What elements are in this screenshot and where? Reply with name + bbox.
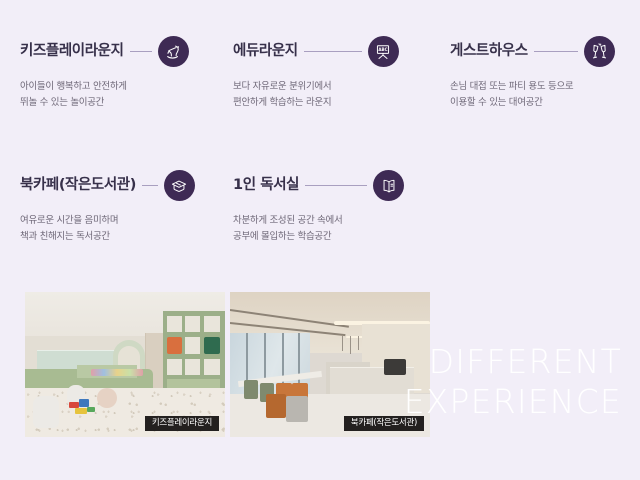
photo-toy-row [91, 369, 143, 376]
connector-line [305, 185, 367, 186]
connector-line [534, 51, 578, 52]
feature-head: 1인 독서실 [233, 170, 433, 201]
connector-line [142, 185, 158, 186]
easel-board-icon: ABC [368, 36, 399, 67]
photo-pendant-light [350, 336, 351, 355]
toasting-glasses-icon [584, 36, 615, 67]
connector-line [304, 51, 362, 52]
photo-pendant-light [358, 336, 359, 351]
feature-card-single-reading-room[interactable]: 1인 독서실 차분하게 조성된 공간 속에서 공부에 몰입하는 학습공간 [233, 170, 433, 244]
photo-plush-toy [33, 396, 59, 428]
feature-head: 키즈플레이라운지 [20, 36, 220, 67]
photo-coffee-machine [384, 359, 406, 375]
svg-text:ABC: ABC [379, 46, 388, 51]
feature-desc-line-1: 손님 대접 또는 파티 용도 등으로 [450, 79, 640, 95]
photo-shelving [163, 311, 225, 394]
feature-description: 여유로운 시간을 음미하며 책과 친해지는 독서공간 [20, 213, 220, 244]
rocking-horse-icon [158, 36, 189, 67]
feature-title: 에듀라운지 [233, 44, 298, 59]
feature-card-kids-play-lounge[interactable]: 키즈플레이라운지 아이들이 행복하고 안전하게 [20, 36, 220, 110]
feature-desc-line-1: 차분하게 조성된 공간 속에서 [233, 213, 433, 229]
feature-desc-line-2: 뛰놀 수 있는 놀이공간 [20, 95, 220, 111]
feature-card-guest-house[interactable]: 게스트하우스 손 [450, 36, 640, 110]
feature-card-book-cafe[interactable]: 북카페(작은도서관) 여유로운 시간을 음미하며 책과 친해지는 독서공간 [20, 170, 220, 244]
wordmark-line-1: DIFFERENT [404, 342, 622, 382]
feature-description: 아이들이 행복하고 안전하게 뛰놀 수 있는 놀이공간 [20, 79, 220, 110]
feature-desc-line-1: 여유로운 시간을 음미하며 [20, 213, 220, 229]
open-book-icon [373, 170, 404, 201]
feature-head: 에듀라운지 ABC [233, 36, 433, 67]
feature-title: 키즈플레이라운지 [20, 44, 124, 59]
photo-chair [266, 394, 286, 419]
feature-title: 1인 독서실 [233, 178, 299, 193]
feature-title: 게스트하우스 [450, 44, 528, 59]
feature-desc-line-2: 책과 친해지는 독서공간 [20, 229, 220, 245]
wordmark-line-2: EXPERIENCE [404, 382, 622, 422]
photo-caption: 키즈플레이라운지 [145, 416, 219, 432]
wordmark: DIFFERENT EXPERIENCE [404, 342, 622, 423]
photo-chair [286, 396, 308, 422]
stacked-books-icon [164, 170, 195, 201]
photo-block-toy [75, 408, 87, 414]
feature-desc-line-2: 이용할 수 있는 대여공간 [450, 95, 640, 111]
feature-description: 보다 자유로운 분위기에서 편안하게 학습하는 라운지 [233, 79, 433, 110]
photo-block-toy [79, 399, 89, 406]
gallery-photo-kids-play-lounge[interactable]: 키즈플레이라운지 [25, 292, 225, 437]
feature-desc-line-2: 편안하게 학습하는 라운지 [233, 95, 433, 111]
feature-desc-line-2: 공부에 몰입하는 학습공간 [233, 229, 433, 245]
photo-block-toy [87, 407, 95, 413]
connector-line [130, 51, 152, 52]
photo-pendant-light [342, 336, 343, 352]
photo-ball [97, 388, 117, 408]
feature-description: 손님 대접 또는 파티 용도 등으로 이용할 수 있는 대여공간 [450, 79, 640, 110]
gallery-photo-book-cafe[interactable]: 북카페(작은도서관) [230, 292, 430, 437]
feature-head: 게스트하우스 [450, 36, 640, 67]
feature-description: 차분하게 조성된 공간 속에서 공부에 몰입하는 학습공간 [233, 213, 433, 244]
feature-card-edu-lounge[interactable]: 에듀라운지 ABC 보다 자유로운 분위기에서 편안하게 [233, 36, 433, 110]
feature-desc-line-1: 보다 자유로운 분위기에서 [233, 79, 433, 95]
photo-chair [244, 380, 258, 399]
feature-head: 북카페(작은도서관) [20, 170, 220, 201]
feature-desc-line-1: 아이들이 행복하고 안전하게 [20, 79, 220, 95]
page-root: 키즈플레이라운지 아이들이 행복하고 안전하게 [0, 0, 640, 480]
feature-title: 북카페(작은도서관) [20, 178, 136, 193]
